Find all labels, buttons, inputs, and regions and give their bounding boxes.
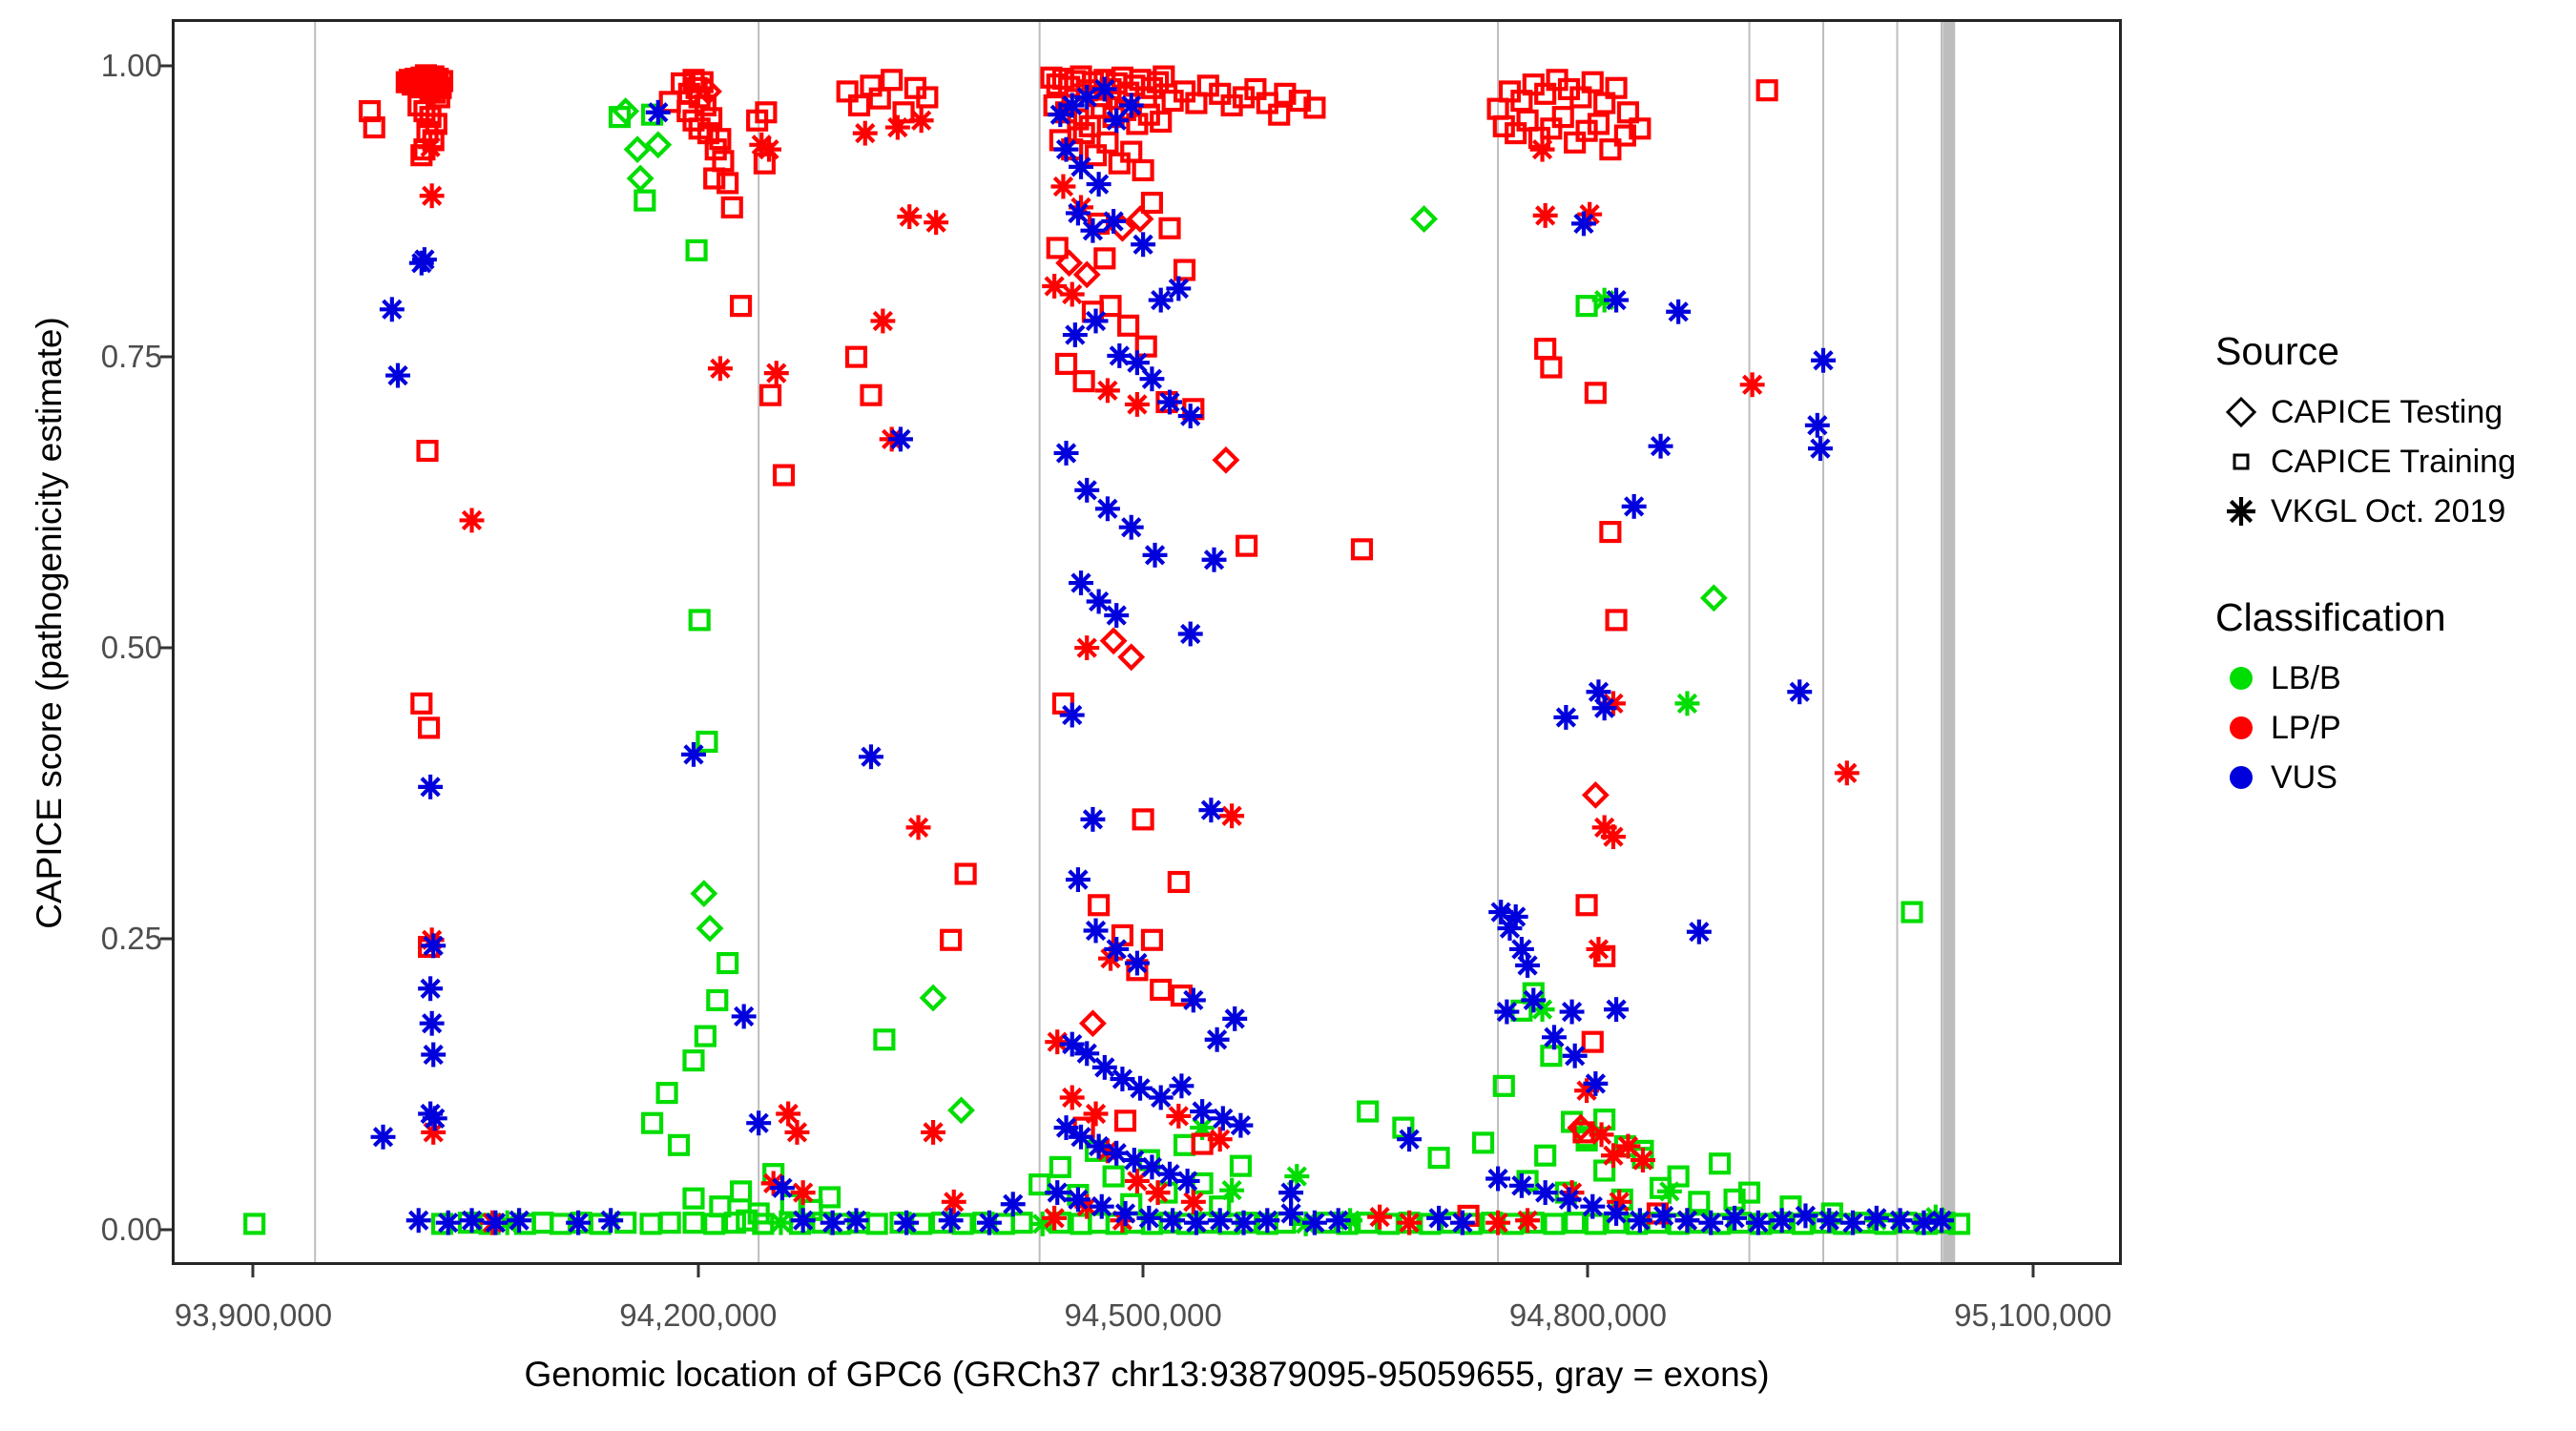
legend-item[interactable]: LP/P (2212, 703, 2565, 753)
x-tick-mark (1142, 1265, 1145, 1277)
y-tick-label: 0.25 (0, 921, 162, 957)
legend-item-label: CAPICE Testing (2271, 394, 2503, 431)
legend-item[interactable]: VUS (2212, 753, 2565, 802)
x-tick-mark (2031, 1265, 2034, 1277)
legend-item-label: LB/B (2271, 660, 2341, 697)
legend-item-label: CAPICE Training (2271, 444, 2516, 481)
x-tick-label: 94,800,000 (1509, 1297, 1667, 1334)
x-tick-label: 95,100,000 (1954, 1297, 2111, 1334)
legend-group-source: Source CAPICE TestingCAPICE TrainingVKGL… (2212, 329, 2565, 536)
x-tick-label: 94,200,000 (619, 1297, 777, 1334)
y-tick-label: 0.50 (0, 630, 162, 666)
diamond-outline-icon (2212, 390, 2271, 434)
legend-group-classification: Classification LB/BLP/PVUS (2212, 595, 2565, 802)
x-tick-mark (1587, 1265, 1589, 1277)
x-tick-mark (252, 1265, 255, 1277)
asterisk-icon (2212, 489, 2271, 533)
y-tick-mark (160, 647, 172, 650)
legend-item[interactable]: VKGL Oct. 2019 (2212, 487, 2565, 536)
y-tick-label: 0.75 (0, 339, 162, 375)
y-tick-label: 0.00 (0, 1212, 162, 1248)
y-axis-label: CAPICE score (pathogenicity estimate) (31, 0, 69, 1265)
legend-item-label: LP/P (2271, 710, 2341, 747)
y-tick-mark (160, 1229, 172, 1232)
filled-circle-icon (2212, 756, 2271, 799)
legend-item[interactable]: CAPICE Testing (2212, 387, 2565, 437)
legend-title-source: Source (2215, 329, 2565, 374)
y-tick-mark (160, 938, 172, 941)
legend: Source CAPICE TestingCAPICE TrainingVKGL… (2212, 329, 2565, 861)
legend-title-classification: Classification (2215, 595, 2565, 640)
legend-item[interactable]: LB/B (2212, 653, 2565, 703)
x-tick-label: 94,500,000 (1065, 1297, 1222, 1334)
y-tick-label: 1.00 (0, 48, 162, 84)
legend-item-label: VUS (2271, 759, 2337, 797)
y-axis: 0.000.250.500.751.00 (0, 0, 2576, 1431)
y-tick-mark (160, 355, 172, 358)
legend-item-label: VKGL Oct. 2019 (2271, 493, 2505, 530)
legend-item[interactable]: CAPICE Training (2212, 437, 2565, 487)
y-tick-mark (160, 64, 172, 67)
x-axis-label: Genomic location of GPC6 (GRCh37 chr13:9… (172, 1355, 2122, 1395)
x-tick-mark (696, 1265, 699, 1277)
filled-circle-icon (2212, 656, 2271, 700)
square-outline-icon (2212, 440, 2271, 484)
filled-circle-icon (2212, 706, 2271, 750)
x-tick-label: 93,900,000 (175, 1297, 332, 1334)
